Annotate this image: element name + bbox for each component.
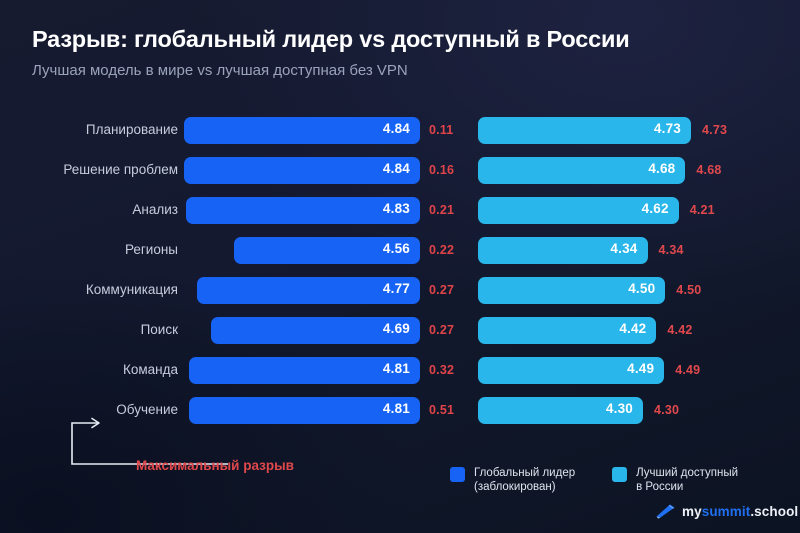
global-leader-value: 4.77 (383, 281, 410, 296)
bar-row: Анализ4.830.214.624.21 (0, 193, 800, 233)
global-leader-value: 4.56 (383, 241, 410, 256)
trailing-value: 4.21 (690, 203, 715, 217)
gap-value: 0.11 (429, 123, 453, 137)
gap-value: 0.21 (429, 203, 454, 217)
brand-logo: mysummit.school (655, 503, 798, 519)
russia-available-value: 4.68 (648, 161, 675, 176)
russia-available-value: 4.30 (606, 401, 633, 416)
bar-row: Поиск4.690.274.424.42 (0, 313, 800, 353)
global-leader-bar: 4.84 (184, 157, 420, 184)
bar-row: Команда4.810.324.494.49 (0, 353, 800, 393)
logo-my: my (682, 504, 702, 519)
pen-icon (655, 503, 677, 519)
legend-item[interactable]: Лучший доступный в России (612, 466, 738, 494)
trailing-value: 4.30 (654, 403, 679, 417)
russia-available-value: 4.49 (627, 361, 654, 376)
chart-canvas: Разрыв: глобальный лидер vs доступный в … (0, 0, 800, 533)
russia-available-bar: 4.73 (478, 117, 691, 144)
russia-available-value: 4.42 (619, 321, 646, 336)
category-label: Решение проблем (63, 162, 178, 177)
russia-available-bar: 4.62 (478, 197, 679, 224)
global-leader-value: 4.81 (383, 361, 410, 376)
russia-available-value: 4.50 (628, 281, 655, 296)
gap-value: 0.51 (429, 403, 454, 417)
global-leader-bar: 4.84 (184, 117, 420, 144)
russia-available-bar: 4.68 (478, 157, 685, 184)
global-leader-bar: 4.81 (189, 357, 420, 384)
trailing-value: 4.34 (659, 243, 684, 257)
legend-label: Глобальный лидер (заблокирован) (474, 466, 575, 494)
chart-subtitle: Лучшая модель в мире vs лучшая доступная… (32, 62, 408, 79)
trailing-value: 4.42 (667, 323, 692, 337)
category-label: Регионы (125, 242, 178, 257)
russia-available-bar: 4.34 (478, 237, 648, 264)
russia-available-bar: 4.42 (478, 317, 656, 344)
bar-rows: Планирование4.840.114.734.73Решение проб… (0, 113, 800, 433)
legend-swatch (450, 467, 465, 482)
gap-value: 0.32 (429, 363, 454, 377)
trailing-value: 4.49 (675, 363, 700, 377)
global-leader-value: 4.84 (383, 121, 410, 136)
brand-logo-text: mysummit.school (682, 504, 798, 519)
bar-row: Планирование4.840.114.734.73 (0, 113, 800, 153)
logo-summit: summit (702, 504, 751, 519)
category-label: Коммуникация (86, 282, 178, 297)
global-leader-bar: 4.83 (186, 197, 420, 224)
chart-legend: Глобальный лидер (заблокирован)Лучший до… (450, 466, 738, 494)
trailing-value: 4.73 (702, 123, 727, 137)
global-leader-value: 4.83 (383, 201, 410, 216)
global-leader-bar: 4.69 (211, 317, 420, 344)
chart-title: Разрыв: глобальный лидер vs доступный в … (32, 26, 630, 53)
bar-row: Коммуникация4.770.274.504.50 (0, 273, 800, 313)
russia-available-value: 4.73 (654, 121, 681, 136)
legend-label: Лучший доступный в России (636, 466, 738, 494)
global-leader-value: 4.84 (383, 161, 410, 176)
bar-row: Регионы4.560.224.344.34 (0, 233, 800, 273)
gap-value: 0.16 (429, 163, 454, 177)
global-leader-value: 4.69 (383, 321, 410, 336)
max-gap-label: Максимальный разрыв (136, 458, 294, 473)
legend-item[interactable]: Глобальный лидер (заблокирован) (450, 466, 575, 494)
bar-row: Решение проблем4.840.164.684.68 (0, 153, 800, 193)
category-label: Анализ (132, 202, 178, 217)
gap-value: 0.27 (429, 323, 454, 337)
max-gap-annotation: Максимальный разрыв (58, 414, 358, 476)
russia-available-value: 4.34 (610, 241, 637, 256)
russia-available-bar: 4.30 (478, 397, 643, 424)
logo-school: .school (750, 504, 798, 519)
trailing-value: 4.50 (676, 283, 701, 297)
gap-value: 0.22 (429, 243, 454, 257)
global-leader-bar: 4.77 (197, 277, 421, 304)
category-label: Команда (123, 362, 178, 377)
gap-value: 0.27 (429, 283, 454, 297)
category-label: Планирование (86, 122, 178, 137)
global-leader-value: 4.81 (383, 401, 410, 416)
category-label: Поиск (141, 322, 178, 337)
legend-swatch (612, 467, 627, 482)
russia-available-bar: 4.50 (478, 277, 665, 304)
global-leader-bar: 4.56 (234, 237, 420, 264)
russia-available-bar: 4.49 (478, 357, 664, 384)
russia-available-value: 4.62 (642, 201, 669, 216)
trailing-value: 4.68 (696, 163, 721, 177)
